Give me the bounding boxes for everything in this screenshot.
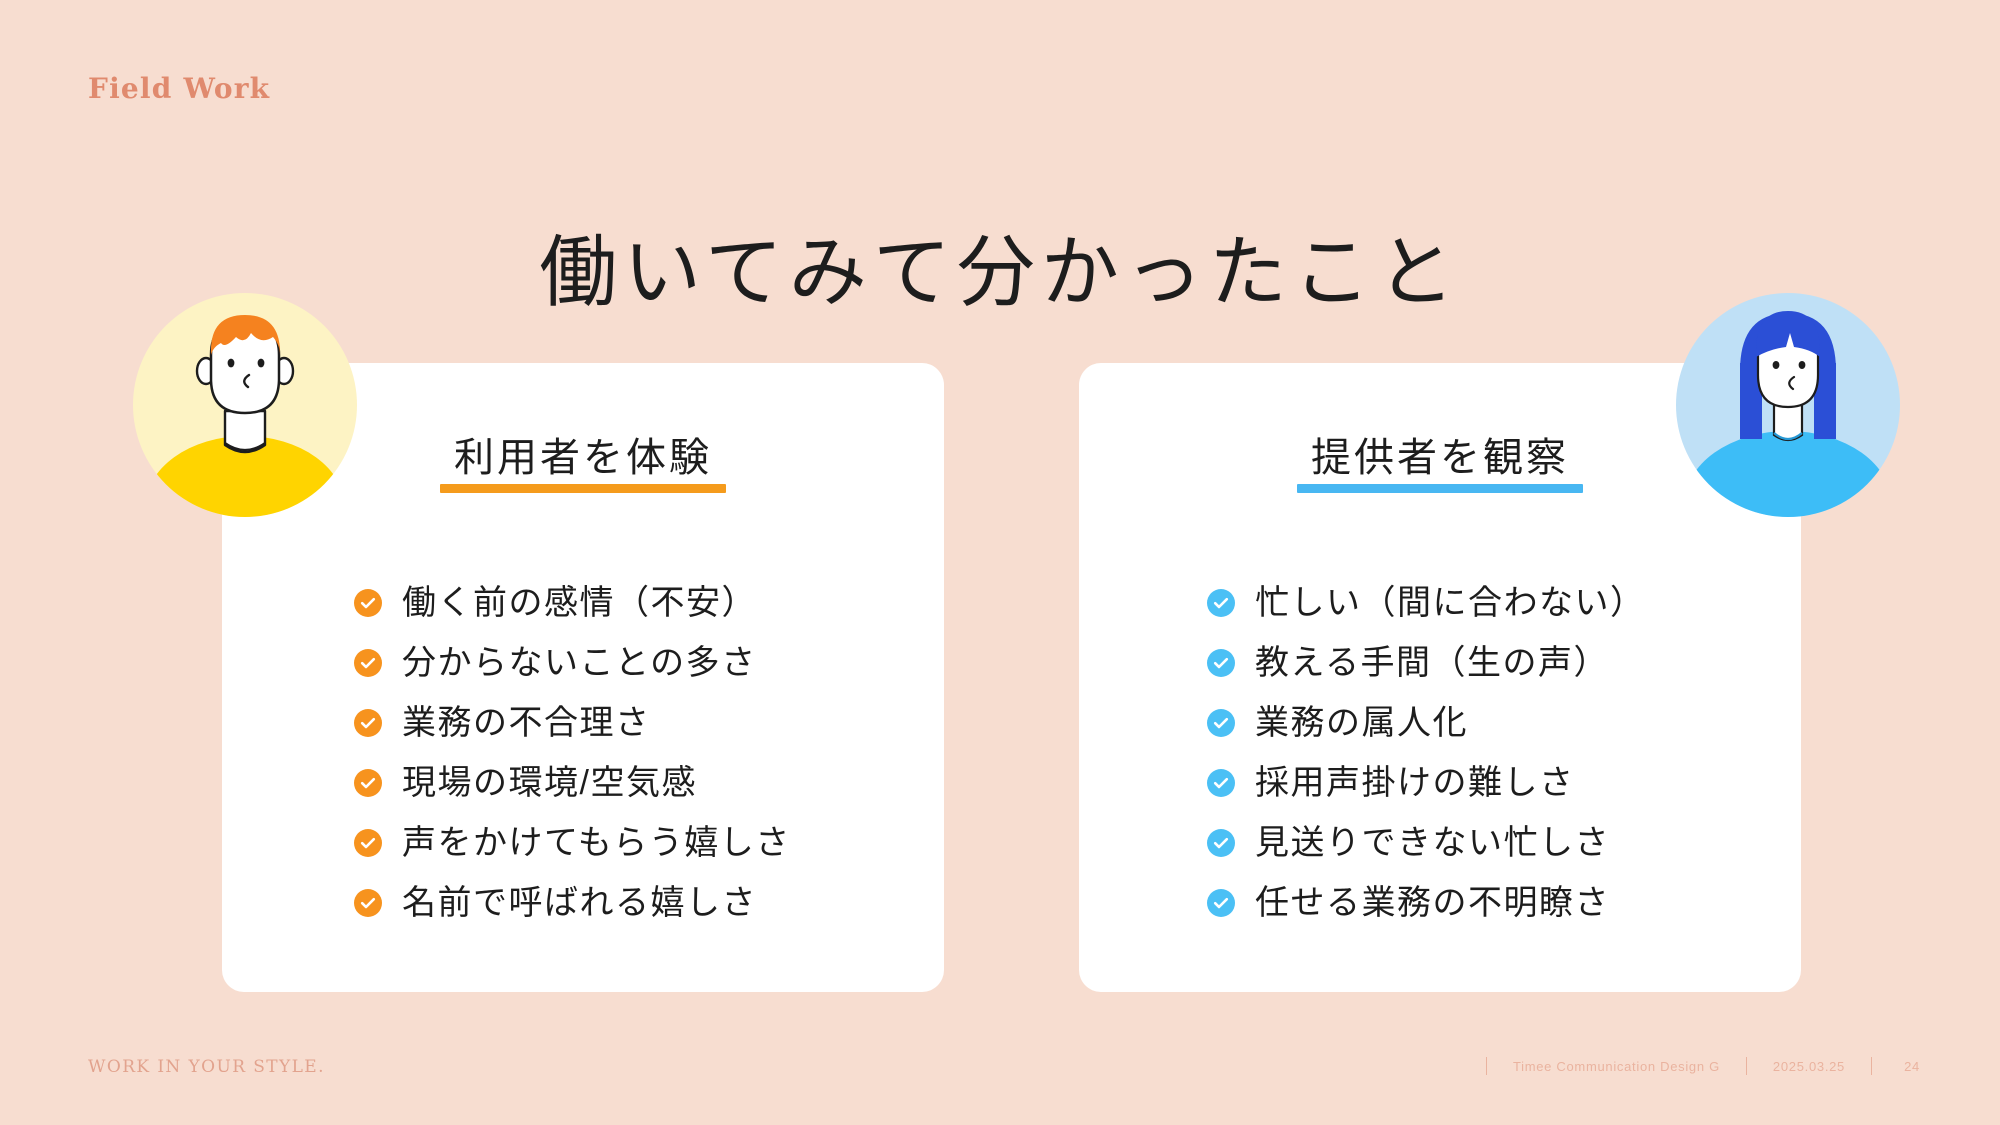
list-item-label: 業務の不合理さ (402, 706, 651, 740)
provider-avatar (1676, 293, 1900, 517)
list-item-label: 採用声掛けの難しさ (1255, 766, 1575, 800)
check-circle-icon (354, 889, 382, 917)
list-item: 名前で呼ばれる嬉しさ (222, 873, 944, 933)
list-item-label: 見送りできない忙しさ (1255, 826, 1610, 860)
bullet-list-left: 働く前の感情（不安） 分からないことの多さ 業務の不合理さ 現場の環境/空気感 (222, 573, 944, 933)
list-item: 教える手間（生の声） (1079, 633, 1801, 693)
page-title: 働いてみて分かったこと (0, 210, 2000, 322)
list-item: 業務の属人化 (1079, 693, 1801, 753)
bullet-list-right: 忙しい（間に合わない） 教える手間（生の声） 業務の属人化 採用声掛けの難しさ (1079, 573, 1801, 933)
check-circle-icon (1207, 709, 1235, 737)
card-left-heading-underline (440, 484, 726, 493)
check-circle-icon (354, 649, 382, 677)
check-circle-icon (354, 769, 382, 797)
list-item-label: 忙しい（間に合わない） (1255, 586, 1646, 620)
check-circle-icon (1207, 889, 1235, 917)
check-circle-icon (1207, 589, 1235, 617)
list-item: 忙しい（間に合わない） (1079, 573, 1801, 633)
slide-canvas: Field Work 働いてみて分かったこと 利用者を体験 働く前の感情（不安）… (0, 0, 2000, 1125)
list-item: 分からないことの多さ (222, 633, 944, 693)
check-circle-icon (1207, 769, 1235, 797)
check-circle-icon (354, 709, 382, 737)
list-item: 現場の環境/空気感 (222, 753, 944, 813)
section-label: Field Work (88, 72, 270, 105)
footer-divider (1746, 1057, 1747, 1075)
footer-divider (1871, 1057, 1872, 1075)
list-item-label: 現場の環境/空気感 (402, 766, 697, 800)
card-right-heading-underline (1297, 484, 1583, 493)
list-item: 声をかけてもらう嬉しさ (222, 813, 944, 873)
footer-tagline: WORK IN YOUR STYLE. (88, 1057, 325, 1077)
footer-divider (1486, 1057, 1487, 1075)
list-item-label: 名前で呼ばれる嬉しさ (402, 886, 757, 920)
list-item: 任せる業務の不明瞭さ (1079, 873, 1801, 933)
check-circle-icon (1207, 829, 1235, 857)
list-item-label: 任せる業務の不明瞭さ (1255, 886, 1610, 920)
footer-meta: Timee Communication Design G 2025.03.25 … (1460, 1057, 1920, 1075)
list-item: 業務の不合理さ (222, 693, 944, 753)
footer-date: 2025.03.25 (1773, 1059, 1845, 1074)
footer-org: Timee Communication Design G (1513, 1059, 1720, 1074)
list-item-label: 働く前の感情（不安） (402, 586, 757, 620)
check-circle-icon (1207, 649, 1235, 677)
list-item: 採用声掛けの難しさ (1079, 753, 1801, 813)
list-item: 見送りできない忙しさ (1079, 813, 1801, 873)
list-item-label: 教える手間（生の声） (1255, 646, 1609, 680)
list-item-label: 声をかけてもらう嬉しさ (402, 826, 791, 860)
list-item-label: 業務の属人化 (1255, 706, 1468, 740)
list-item-label: 分からないことの多さ (402, 646, 757, 680)
worker-avatar (133, 293, 357, 517)
list-item: 働く前の感情（不安） (222, 573, 944, 633)
check-circle-icon (354, 829, 382, 857)
check-circle-icon (354, 589, 382, 617)
footer-page-number: 24 (1898, 1059, 1920, 1074)
